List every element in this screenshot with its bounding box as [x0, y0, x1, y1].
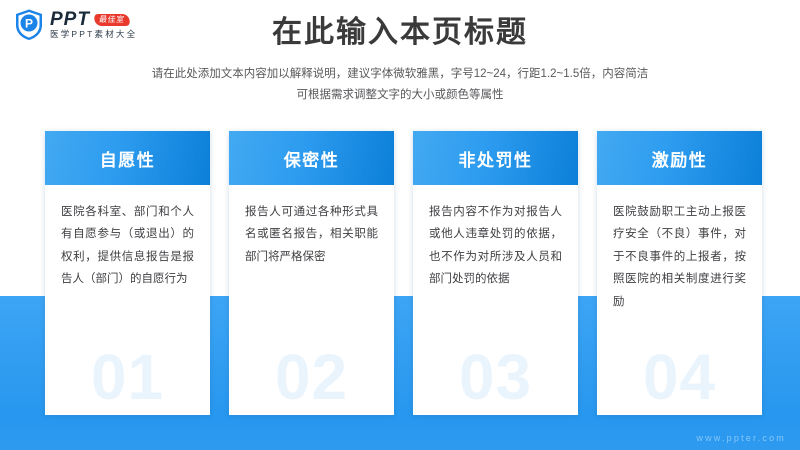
card-body: 01 医院各科室、部门和个人有自愿参与（或退出）的权利，提供信息报告是报告人（部… — [45, 185, 210, 415]
card-title: 自愿性 — [100, 146, 156, 171]
page-subtitle: 请在此处添加文本内容加以解释说明，建议字体微软雅黑，字号12~24，行距1.2~… — [0, 64, 800, 107]
card-title: 非处罚性 — [459, 146, 533, 171]
card-item[interactable]: 自愿性 01 医院各科室、部门和个人有自愿参与（或退出）的权利，提供信息报告是报… — [45, 131, 210, 415]
card-body: 04 医院鼓励职工主动上报医疗安全（不良）事件，对于不良事件的上报者，按照医院的… — [597, 185, 762, 415]
page-title: 在此输入本页标题 — [0, 14, 800, 52]
card-title: 激励性 — [652, 146, 708, 171]
card-list: 自愿性 01 医院各科室、部门和个人有自愿参与（或退出）的权利，提供信息报告是报… — [45, 131, 755, 415]
card-number-watermark: 04 — [597, 345, 762, 409]
card-description: 报告人可通过各种形式具名或匿名报告，相关职能部门将严格保密 — [245, 201, 378, 268]
card-body: 03 报告内容不作为对报告人或他人违章处罚的依据，也不作为对所涉及人员和部门处罚… — [413, 185, 578, 415]
card-number-watermark: 01 — [45, 345, 210, 409]
card-number-watermark: 02 — [229, 345, 394, 409]
card-body: 02 报告人可通过各种形式具名或匿名报告，相关职能部门将严格保密 — [229, 185, 394, 415]
band-shade — [0, 416, 800, 450]
subtitle-line-1: 请在此处添加文本内容加以解释说明，建议字体微软雅黑，字号12~24，行距1.2~… — [0, 64, 800, 85]
card-title: 保密性 — [284, 146, 340, 171]
slide-canvas: www.ppter.com P PPT 最佳室 医学PPT素材大全 在此输入本页… — [0, 0, 800, 450]
card-item[interactable]: 非处罚性 03 报告内容不作为对报告人或他人违章处罚的依据，也不作为对所涉及人员… — [413, 131, 578, 415]
card-header: 保密性 — [229, 131, 394, 185]
card-description: 报告内容不作为对报告人或他人违章处罚的依据，也不作为对所涉及人员和部门处罚的依据 — [429, 201, 562, 291]
card-header: 自愿性 — [45, 131, 210, 185]
card-number-watermark: 03 — [413, 345, 578, 409]
card-description: 医院各科室、部门和个人有自愿参与（或退出）的权利，提供信息报告是报告人（部门）的… — [61, 201, 194, 291]
footer-url: www.ppter.com — [696, 433, 786, 443]
card-item[interactable]: 保密性 02 报告人可通过各种形式具名或匿名报告，相关职能部门将严格保密 — [229, 131, 394, 415]
card-item[interactable]: 激励性 04 医院鼓励职工主动上报医疗安全（不良）事件，对于不良事件的上报者，按… — [597, 131, 762, 415]
card-header: 非处罚性 — [413, 131, 578, 185]
card-description: 医院鼓励职工主动上报医疗安全（不良）事件，对于不良事件的上报者，按照医院的相关制… — [613, 201, 746, 313]
subtitle-line-2: 可根据需求调整文字的大小或颜色等属性 — [0, 85, 800, 106]
card-header: 激励性 — [597, 131, 762, 185]
